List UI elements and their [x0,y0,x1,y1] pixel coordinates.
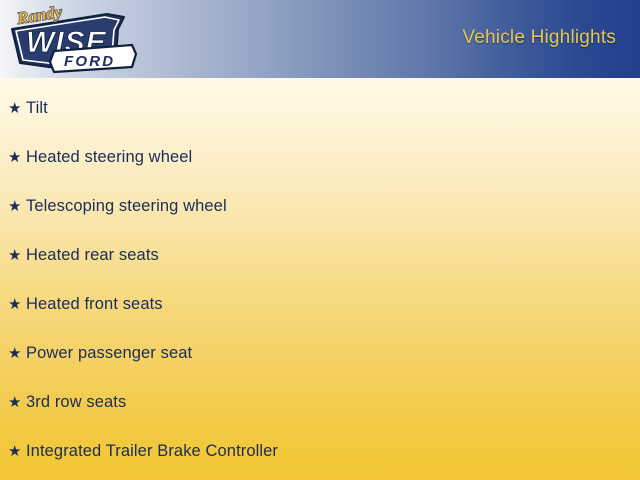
star-icon: ★ [8,297,26,312]
list-item[interactable]: ★ Integrated Trailer Brake Controller [8,438,278,464]
highlight-label: Integrated Trailer Brake Controller [26,442,278,461]
list-item[interactable]: ★ Heated steering wheel [8,144,192,170]
highlight-label: Tilt [26,99,48,118]
vehicle-highlights-list: ★ Tilt ★ Heated steering wheel ★ Telesco… [0,78,640,480]
star-icon: ★ [8,248,26,263]
star-icon: ★ [8,444,26,459]
vehicle-highlights-slide: WISE FORD Randy Vehicle Highlights ★ Til… [0,0,640,480]
star-icon: ★ [8,346,26,361]
highlight-label: 3rd row seats [26,393,126,412]
highlight-label: Telescoping steering wheel [26,197,227,216]
list-item[interactable]: ★ Heated front seats [8,291,163,317]
page-title: Vehicle Highlights [462,27,616,49]
highlight-label: Power passenger seat [26,344,192,363]
list-item[interactable]: ★ 3rd row seats [8,389,126,415]
star-icon: ★ [8,199,26,214]
highlight-label: Heated steering wheel [26,148,192,167]
list-item[interactable]: ★ Tilt [8,95,48,121]
list-item[interactable]: ★ Heated rear seats [8,242,159,268]
header-band: WISE FORD Randy Vehicle Highlights [0,0,640,78]
logo-artwork: WISE FORD Randy [6,2,138,76]
logo-ford-text: FORD [64,53,115,70]
randy-wise-ford-logo[interactable]: WISE FORD Randy [6,2,138,76]
highlight-label: Heated front seats [26,295,163,314]
star-icon: ★ [8,101,26,116]
list-item[interactable]: ★ Power passenger seat [8,340,192,366]
star-icon: ★ [8,150,26,165]
highlight-label: Heated rear seats [26,246,159,265]
list-item[interactable]: ★ Telescoping steering wheel [8,193,227,219]
star-icon: ★ [8,395,26,410]
